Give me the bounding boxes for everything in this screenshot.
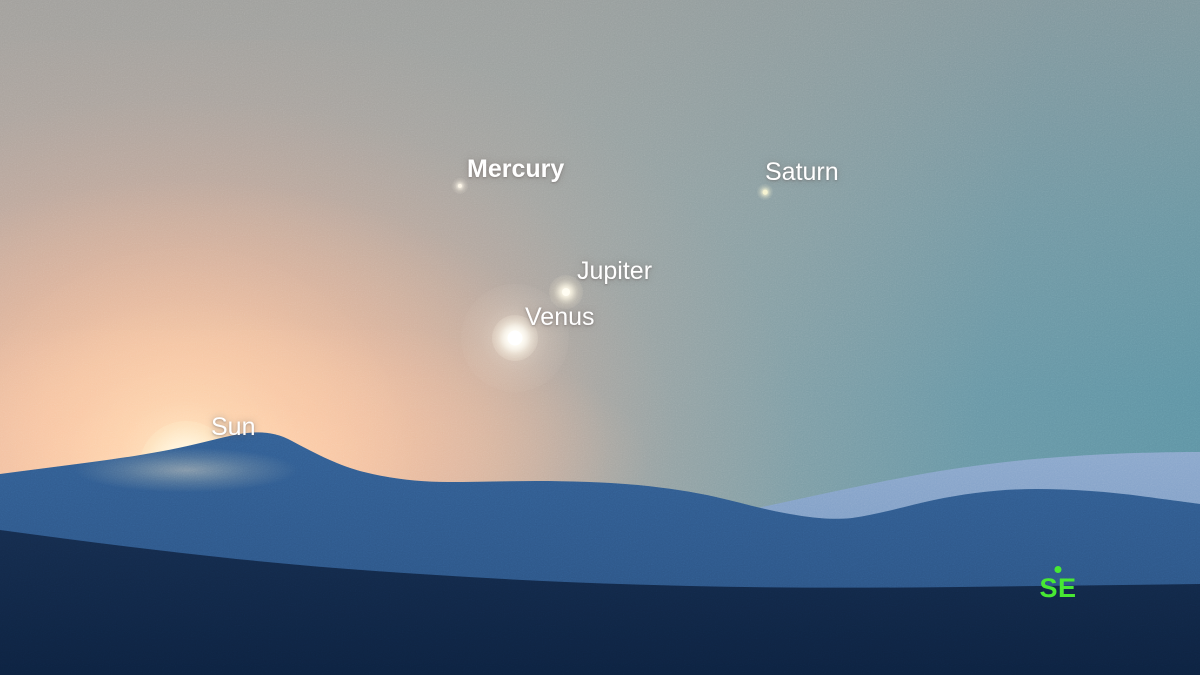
label-jupiter[interactable]: Jupiter [577,259,652,284]
compass-label: SE [1039,575,1076,602]
mountain-silhouettes [0,0,1200,675]
label-sun[interactable]: Sun [211,415,255,440]
label-venus[interactable]: Venus [525,305,595,330]
compass-direction-marker[interactable]: SE [1039,566,1076,602]
label-mercury[interactable]: Mercury [467,157,564,182]
label-saturn[interactable]: Saturn [765,160,839,185]
compass-dot-icon [1055,566,1062,573]
sky-chart-scene: Mercury Saturn Jupiter Venus Sun SE [0,0,1200,675]
